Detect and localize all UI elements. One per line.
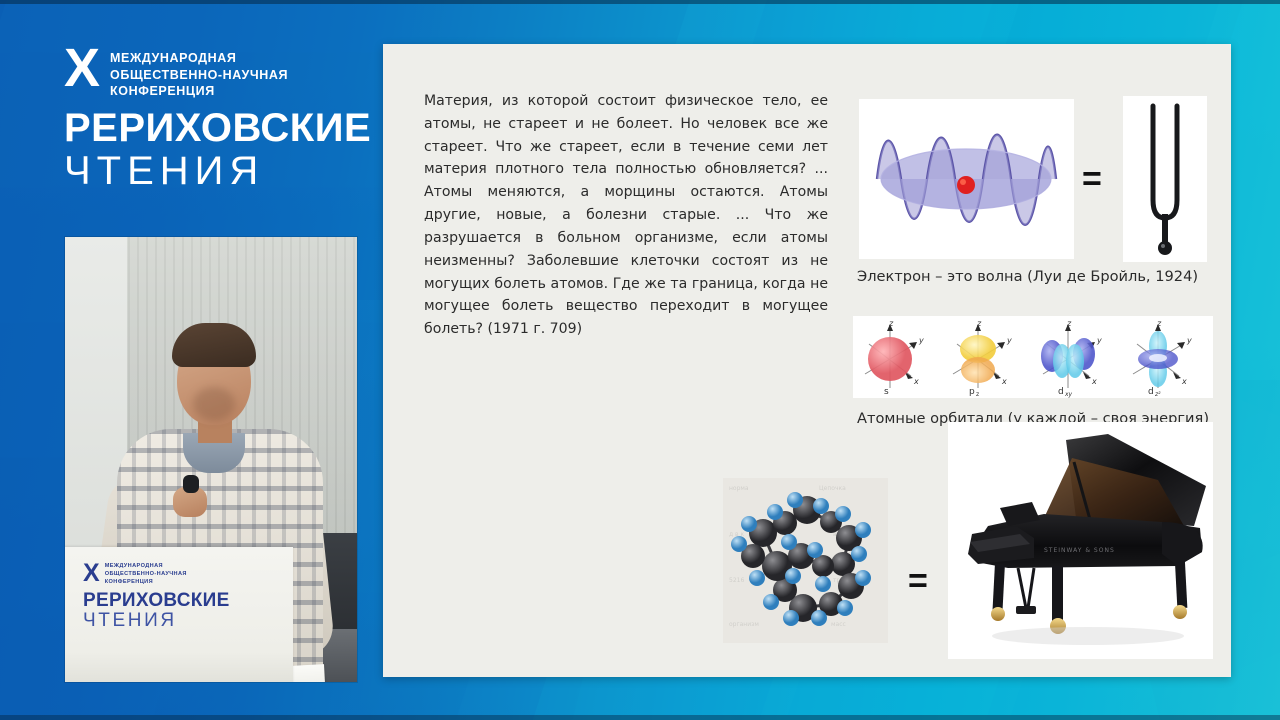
molecular-model-icon: нормаЦепочка д в катом 5216три организмм… bbox=[723, 478, 888, 643]
logo-header: X МЕЖДУНАРОДНАЯ ОБЩЕСТВЕННО-НАУЧНАЯ КОНФ… bbox=[64, 46, 374, 100]
bottom-edge-bar bbox=[0, 715, 1280, 720]
slide-quote-text: Материя, из которой состоит физическое т… bbox=[424, 90, 828, 341]
orbital-dz2: d z² z y x bbox=[1133, 319, 1192, 398]
podium-logo-header: X МЕЖДУНАРОДНАЯ ОБЩЕСТВЕННО-НАУЧНАЯ КОНФ… bbox=[83, 563, 273, 587]
svg-text:p: p bbox=[969, 387, 975, 397]
slide-background: X МЕЖДУНАРОДНАЯ ОБЩЕСТВЕННО-НАУЧНАЯ КОНФ… bbox=[0, 0, 1280, 720]
standing-wave-icon bbox=[859, 99, 1074, 259]
podium-subtitle-lines: МЕЖДУНАРОДНАЯ ОБЩЕСТВЕННО-НАУЧНАЯ КОНФЕР… bbox=[105, 563, 187, 587]
svg-text:x: x bbox=[1091, 377, 1097, 386]
equals-sign-1: = bbox=[1082, 162, 1102, 196]
logo-line-2: ОБЩЕСТВЕННО-НАУЧНАЯ bbox=[110, 67, 288, 84]
logo-subtitle: ЧТЕНИЯ bbox=[64, 150, 374, 192]
molecule-figure: нормаЦепочка д в катом 5216три организмм… bbox=[723, 478, 888, 643]
svg-text:z: z bbox=[1066, 319, 1072, 328]
logo-title: РЕРИХОВСКИЕ bbox=[64, 108, 374, 149]
svg-text:z: z bbox=[888, 319, 894, 328]
svg-text:x: x bbox=[1181, 377, 1187, 386]
svg-text:z: z bbox=[1156, 319, 1162, 328]
electron-wave-caption: Электрон – это волна (Луи де Бройль, 192… bbox=[857, 268, 1229, 285]
svg-text:STEINWAY & SONS: STEINWAY & SONS bbox=[1044, 547, 1115, 554]
svg-text:s: s bbox=[884, 387, 889, 397]
podium-line-1: МЕЖДУНАРОДНАЯ bbox=[105, 563, 187, 571]
microphone-icon bbox=[183, 475, 199, 493]
svg-text:Цепочка: Цепочка bbox=[819, 485, 846, 492]
podium-roman-numeral: X bbox=[83, 563, 99, 584]
logo-line-3: КОНФЕРЕНЦИЯ bbox=[110, 83, 288, 100]
svg-text:z: z bbox=[976, 319, 982, 328]
equals-sign-2: = bbox=[908, 564, 928, 598]
svg-text:y: y bbox=[918, 336, 924, 345]
logo-line-1: МЕЖДУНАРОДНАЯ bbox=[110, 50, 288, 67]
svg-text:y: y bbox=[1186, 336, 1192, 345]
svg-text:y: y bbox=[1096, 336, 1102, 345]
podium-line-3: КОНФЕРЕНЦИЯ bbox=[105, 579, 187, 587]
tuning-fork-icon bbox=[1123, 96, 1207, 262]
svg-text:xy: xy bbox=[1064, 391, 1073, 398]
presentation-slide: Материя, из которой состоит физическое т… bbox=[383, 44, 1231, 677]
orbital-pz: p z z y x bbox=[953, 319, 1012, 398]
atomic-orbitals-icon: s z y x p z z bbox=[853, 316, 1213, 398]
svg-text:x: x bbox=[913, 377, 919, 386]
orbital-dxy: d xy z y x bbox=[1041, 319, 1102, 398]
svg-text:z²: z² bbox=[1154, 391, 1161, 398]
orbital-s: s z y x bbox=[865, 319, 924, 397]
atomic-orbitals-figure: s z y x p z z bbox=[853, 316, 1213, 398]
speaker-video: X МЕЖДУНАРОДНАЯ ОБЩЕСТВЕННО-НАУЧНАЯ КОНФ… bbox=[65, 237, 357, 682]
svg-text:x: x bbox=[1001, 377, 1007, 386]
electron-wave-figure bbox=[859, 99, 1074, 259]
podium-line-2: ОБЩЕСТВЕННО-НАУЧНАЯ bbox=[105, 571, 187, 579]
speaker-face-shadow bbox=[193, 387, 235, 421]
conference-logo: X МЕЖДУНАРОДНАЯ ОБЩЕСТВЕННО-НАУЧНАЯ КОНФ… bbox=[64, 46, 374, 192]
svg-text:z: z bbox=[976, 391, 979, 398]
speaker-hair bbox=[172, 323, 256, 367]
podium-logo: X МЕЖДУНАРОДНАЯ ОБЩЕСТВЕННО-НАУЧНАЯ КОНФ… bbox=[83, 563, 273, 631]
logo-roman-numeral: X bbox=[64, 46, 98, 90]
svg-text:масс: масс bbox=[831, 621, 846, 628]
svg-text:d: d bbox=[1058, 387, 1064, 397]
logo-subtitle-lines: МЕЖДУНАРОДНАЯ ОБЩЕСТВЕННО-НАУЧНАЯ КОНФЕР… bbox=[110, 46, 288, 100]
podium-banner: X МЕЖДУНАРОДНАЯ ОБЩЕСТВЕННО-НАУЧНАЯ КОНФ… bbox=[65, 547, 293, 682]
tuning-fork-figure bbox=[1123, 96, 1207, 262]
svg-text:5216: 5216 bbox=[729, 577, 744, 584]
grand-piano-icon: STEINWAY & SONS bbox=[948, 422, 1213, 659]
podium-title: РЕРИХОВСКИЕ bbox=[83, 591, 273, 610]
svg-text:организм: организм bbox=[729, 621, 759, 628]
top-edge-bar bbox=[0, 0, 1280, 4]
svg-text:d: d bbox=[1148, 387, 1154, 397]
podium-subtitle: ЧТЕНИЯ bbox=[83, 611, 273, 631]
svg-text:y: y bbox=[1006, 336, 1012, 345]
svg-text:норма: норма bbox=[729, 485, 749, 492]
piano-figure: STEINWAY & SONS bbox=[948, 422, 1213, 659]
